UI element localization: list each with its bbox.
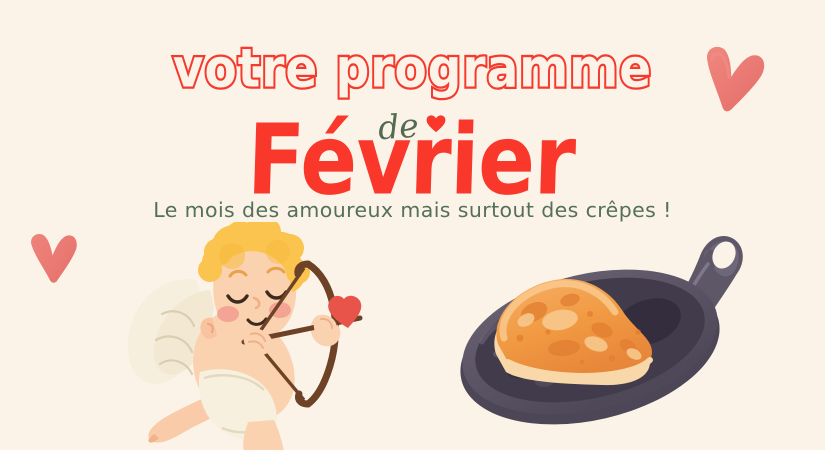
cupid-illustration	[118, 222, 386, 450]
poster-canvas: votre programme de Février Le mois des a…	[0, 0, 825, 450]
watercolor-heart-left	[24, 228, 83, 286]
page-title-outline: votre programme	[0, 42, 825, 96]
crepe-pan-illustration	[452, 222, 762, 427]
subtitle: Le mois des amoureux mais surtout des cr…	[0, 198, 825, 222]
month-title: Février	[0, 111, 825, 208]
